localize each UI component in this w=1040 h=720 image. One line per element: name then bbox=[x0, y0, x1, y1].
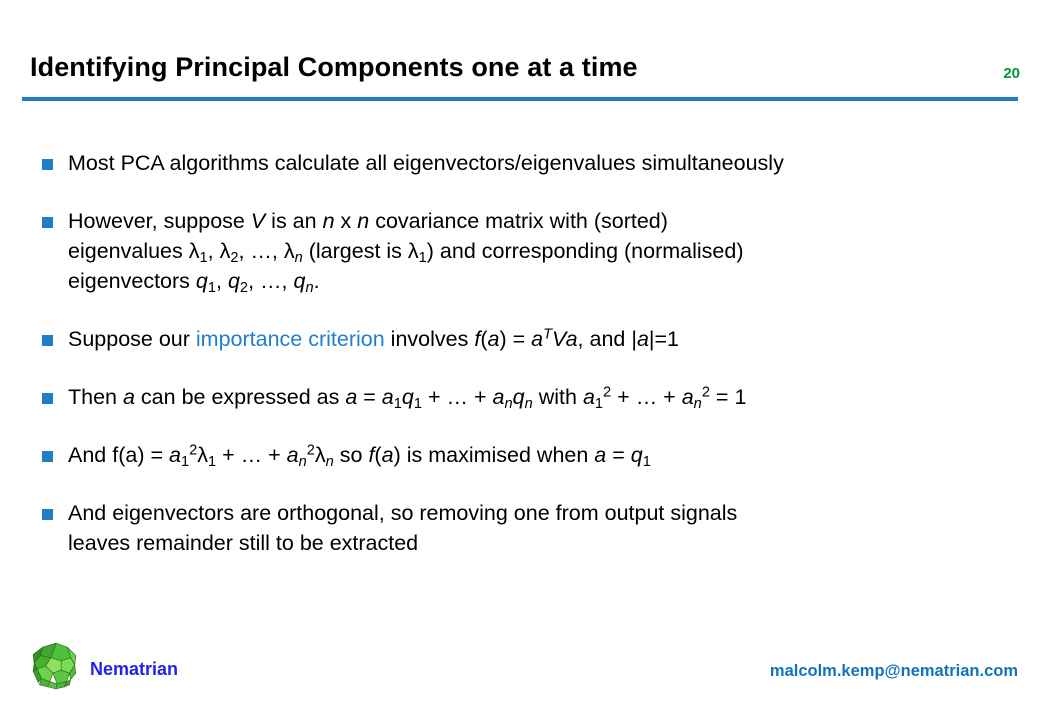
text-fragment: eigenvectors bbox=[68, 269, 196, 293]
bullet-marker-icon bbox=[42, 451, 53, 462]
text-fragment: ( bbox=[374, 443, 381, 467]
subscript: 1 bbox=[595, 396, 603, 412]
text-fragment: And f(a) = bbox=[68, 443, 169, 467]
bullet-line: Suppose our importance criterion involve… bbox=[68, 324, 1040, 354]
text-fragment: ) and corresponding (normalised) bbox=[427, 239, 744, 263]
bullet-marker-icon bbox=[42, 159, 53, 170]
text-fragment: x bbox=[335, 209, 358, 233]
math-var-a: a bbox=[382, 443, 394, 467]
subscript: 1 bbox=[419, 250, 427, 266]
text-fragment: involves bbox=[385, 327, 475, 351]
bullet-line: Then a can be expressed as a = a1q1 + … … bbox=[68, 382, 1040, 412]
bullet-text-1: Most PCA algorithms calculate all eigenv… bbox=[68, 148, 1040, 178]
bullet-text-2: However, suppose V is an n x n covarianc… bbox=[68, 206, 1040, 296]
bullet-marker-icon bbox=[42, 217, 53, 228]
text-fragment: (largest is bbox=[303, 239, 408, 263]
math-var-a: a bbox=[637, 327, 649, 351]
math-var-n: n bbox=[357, 209, 369, 233]
text-fragment: can be expressed as bbox=[135, 385, 345, 409]
text-fragment: covariance matrix with (sorted) bbox=[369, 209, 668, 233]
bullet-line: leaves remainder still to be extracted bbox=[68, 528, 1040, 558]
subscript: n bbox=[505, 396, 513, 412]
math-var-a: a bbox=[169, 443, 181, 467]
bullet-item-4: Then a can be expressed as a = a1q1 + … … bbox=[0, 382, 1040, 412]
superscript: 2 bbox=[189, 442, 197, 458]
bullet-marker-icon bbox=[42, 509, 53, 520]
text-fragment: + … + bbox=[611, 385, 682, 409]
text-fragment: , bbox=[208, 239, 220, 263]
text-fragment: |=1 bbox=[649, 327, 679, 351]
math-var-q: q bbox=[631, 443, 643, 467]
math-var-n: n bbox=[323, 209, 335, 233]
text-fragment: eigenvalues bbox=[68, 239, 189, 263]
math-lambda: λ bbox=[315, 443, 326, 467]
bullet-item-2: However, suppose V is an n x n covarianc… bbox=[0, 206, 1040, 296]
bullet-item-1: Most PCA algorithms calculate all eigenv… bbox=[0, 148, 1040, 178]
text-fragment: = bbox=[357, 385, 382, 409]
bullet-line: And eigenvectors are orthogonal, so remo… bbox=[68, 498, 1040, 528]
subscript: 1 bbox=[643, 454, 651, 470]
superscript: 2 bbox=[307, 442, 315, 458]
subscript: n bbox=[305, 280, 313, 296]
math-var-a: a bbox=[531, 327, 543, 351]
bullet-line: And f(a) = a12λ1 + … + an2λn so f(a) is … bbox=[68, 440, 1040, 470]
math-var-a: a bbox=[583, 385, 595, 409]
subscript: n bbox=[326, 454, 334, 470]
bullet-line: eigenvectors q1, q2, …, qn. bbox=[68, 266, 1040, 296]
superscript: 2 bbox=[702, 384, 710, 400]
math-var-q: q bbox=[513, 385, 525, 409]
subscript: 1 bbox=[208, 454, 216, 470]
slide-number: 20 bbox=[1003, 65, 1020, 82]
math-var-a: a bbox=[594, 443, 606, 467]
text-fragment: ) is maximised when bbox=[394, 443, 595, 467]
text-fragment: , …, bbox=[238, 239, 283, 263]
text-fragment: = bbox=[606, 443, 631, 467]
text-fragment: , bbox=[216, 269, 228, 293]
slide-canvas: Identifying Principal Components one at … bbox=[0, 0, 1040, 720]
math-var-V: V bbox=[251, 209, 265, 233]
text-fragment: , and | bbox=[578, 327, 637, 351]
bullet-line: However, suppose V is an n x n covarianc… bbox=[68, 206, 1040, 236]
bullet-line: eigenvalues λ1, λ2, …, λn (largest is λ1… bbox=[68, 236, 1040, 266]
bullet-line: Most PCA algorithms calculate all eigenv… bbox=[68, 148, 1040, 178]
math-var-a: a bbox=[287, 443, 299, 467]
title-divider bbox=[22, 97, 1018, 101]
slide-header: Identifying Principal Components one at … bbox=[0, 52, 1040, 96]
math-var-q: q bbox=[402, 385, 414, 409]
text-fragment: with bbox=[533, 385, 583, 409]
subscript: 1 bbox=[199, 250, 207, 266]
polyhedron-logo-icon bbox=[30, 640, 82, 692]
math-lambda: λ bbox=[189, 239, 200, 263]
math-var-a: a bbox=[123, 385, 135, 409]
math-var-a: a bbox=[566, 327, 578, 351]
math-var-a: a bbox=[682, 385, 694, 409]
bullet-item-3: Suppose our importance criterion involve… bbox=[0, 324, 1040, 354]
text-fragment: + … + bbox=[216, 443, 287, 467]
math-var-a: a bbox=[382, 385, 394, 409]
brand-name: Nematrian bbox=[90, 659, 178, 680]
math-var-a: a bbox=[345, 385, 357, 409]
subscript: 1 bbox=[394, 396, 402, 412]
subscript: 1 bbox=[414, 396, 422, 412]
math-lambda: λ bbox=[220, 239, 231, 263]
math-var-V: V bbox=[552, 327, 566, 351]
subscript: 1 bbox=[181, 454, 189, 470]
text-fragment: However, suppose bbox=[68, 209, 251, 233]
superscript-transpose: T bbox=[543, 326, 552, 342]
subscript: n bbox=[299, 454, 307, 470]
bullet-text-3: Suppose our importance criterion involve… bbox=[68, 324, 1040, 354]
math-var-q: q bbox=[196, 269, 208, 293]
text-fragment: is an bbox=[265, 209, 322, 233]
text-fragment: . bbox=[314, 269, 320, 293]
math-var-a: a bbox=[487, 327, 499, 351]
subscript: n bbox=[694, 396, 702, 412]
text-fragment: Then bbox=[68, 385, 123, 409]
text-fragment: ) = bbox=[499, 327, 531, 351]
math-lambda: λ bbox=[408, 239, 419, 263]
subscript: n bbox=[295, 250, 303, 266]
subscript: n bbox=[525, 396, 533, 412]
math-var-q: q bbox=[228, 269, 240, 293]
math-lambda: λ bbox=[284, 239, 295, 263]
bullet-marker-icon bbox=[42, 335, 53, 346]
superscript: 2 bbox=[603, 384, 611, 400]
page-title: Identifying Principal Components one at … bbox=[30, 52, 638, 83]
importance-criterion-link[interactable]: importance criterion bbox=[196, 327, 385, 351]
bullet-text-5: And f(a) = a12λ1 + … + an2λn so f(a) is … bbox=[68, 440, 1040, 470]
text-fragment: Suppose our bbox=[68, 327, 196, 351]
text-fragment: so bbox=[334, 443, 369, 467]
slide-body: Most PCA algorithms calculate all eigenv… bbox=[0, 148, 1040, 586]
bullet-marker-icon bbox=[42, 393, 53, 404]
subscript: 1 bbox=[208, 280, 216, 296]
bullet-text-6: And eigenvectors are orthogonal, so remo… bbox=[68, 498, 1040, 558]
text-fragment: + … + bbox=[422, 385, 493, 409]
math-var-q: q bbox=[293, 269, 305, 293]
text-fragment: = 1 bbox=[710, 385, 746, 409]
math-lambda: λ bbox=[197, 443, 208, 467]
subscript: 2 bbox=[240, 280, 248, 296]
bullet-item-6: And eigenvectors are orthogonal, so remo… bbox=[0, 498, 1040, 558]
bullet-item-5: And f(a) = a12λ1 + … + an2λn so f(a) is … bbox=[0, 440, 1040, 470]
math-var-a: a bbox=[493, 385, 505, 409]
text-fragment: , …, bbox=[248, 269, 293, 293]
footer-email-link[interactable]: malcolm.kemp@nematrian.com bbox=[770, 662, 1018, 681]
bullet-text-4: Then a can be expressed as a = a1q1 + … … bbox=[68, 382, 1040, 412]
